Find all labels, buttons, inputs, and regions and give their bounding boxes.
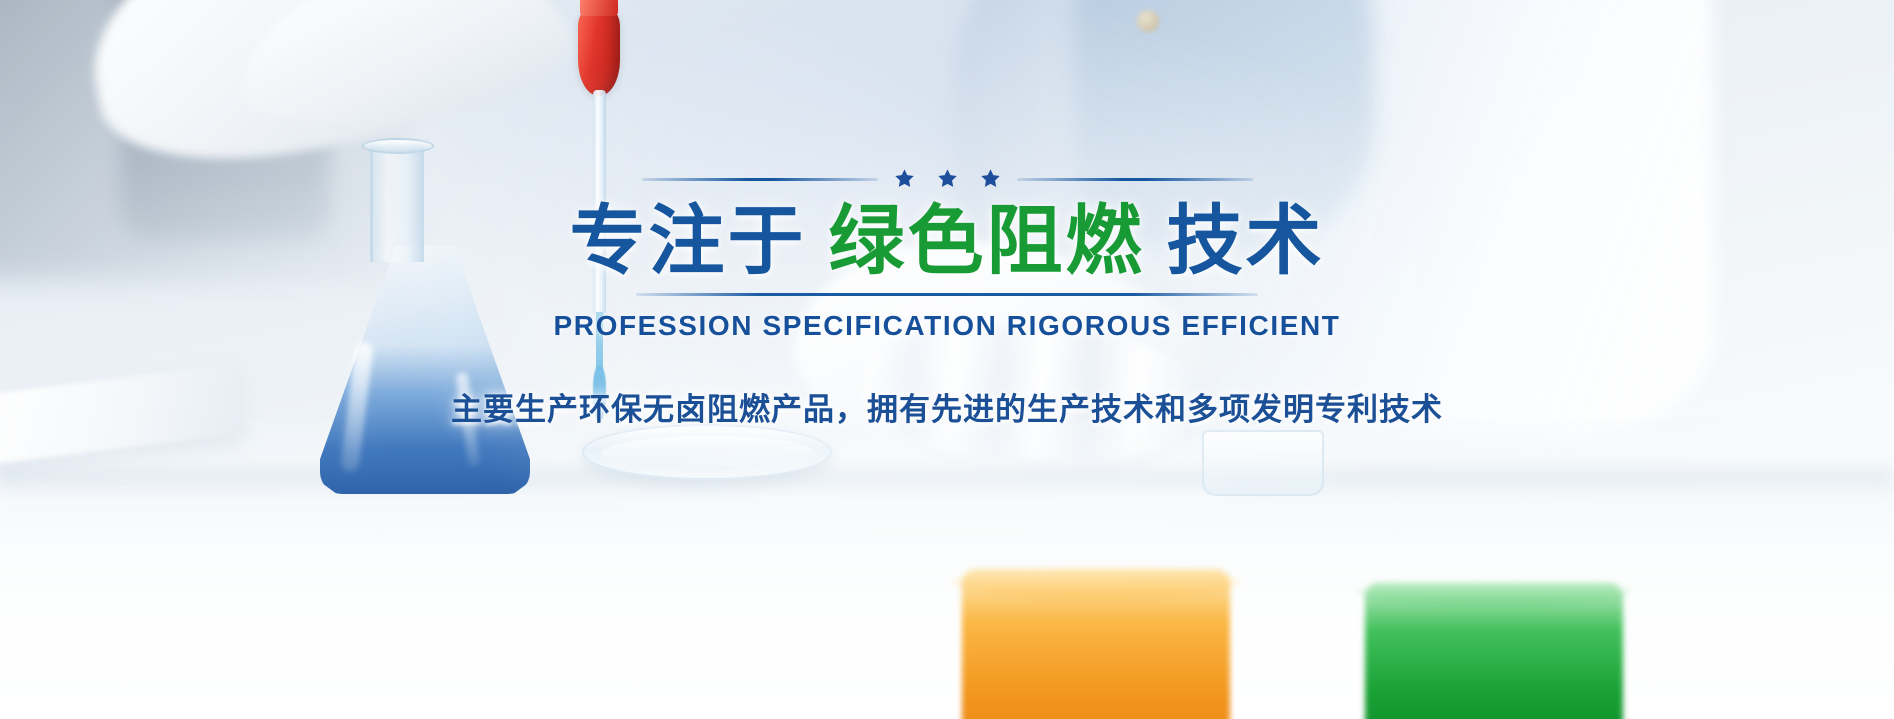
headline-underline [636, 293, 1258, 296]
star-icon [894, 168, 915, 189]
page-title: 专注于绿色阻燃技术 [570, 202, 1325, 283]
petri-dish-inner [602, 436, 816, 470]
banner-tagline: 主要生产环保无卤阻燃产品，拥有先进的生产技术和多项发明专利技术 [451, 384, 1443, 429]
petri-dish [582, 424, 832, 480]
decorative-rule-row [0, 168, 1894, 191]
orange-beaker [962, 569, 1230, 719]
star-group [894, 168, 1001, 189]
green-beaker [1365, 583, 1623, 719]
pipette-red-bulb [578, 6, 620, 96]
decorative-rule-left [642, 178, 878, 181]
hero-banner: 专注于绿色阻燃技术 PROFESSION SPECIFICATION RIGOR… [0, 0, 1894, 719]
headline-part-3: 技术 [1167, 199, 1325, 284]
flask-lip [362, 138, 434, 154]
banner-subtitle: PROFESSION SPECIFICATION RIGOROUS EFFICI… [554, 310, 1341, 342]
banner-content: 专注于绿色阻燃技术 PROFESSION SPECIFICATION RIGOR… [0, 168, 1894, 429]
small-beaker [1202, 430, 1324, 496]
star-icon [980, 168, 1001, 189]
headline-part-2: 绿色阻燃 [829, 199, 1145, 284]
lab-bench-edge [0, 470, 1894, 496]
pipette-bulb-cap [580, 0, 618, 16]
decorative-rule-right [1017, 178, 1253, 181]
headline-part-1: 专注于 [570, 199, 807, 284]
shirt-button-blur [1137, 10, 1159, 32]
star-icon [937, 168, 958, 189]
